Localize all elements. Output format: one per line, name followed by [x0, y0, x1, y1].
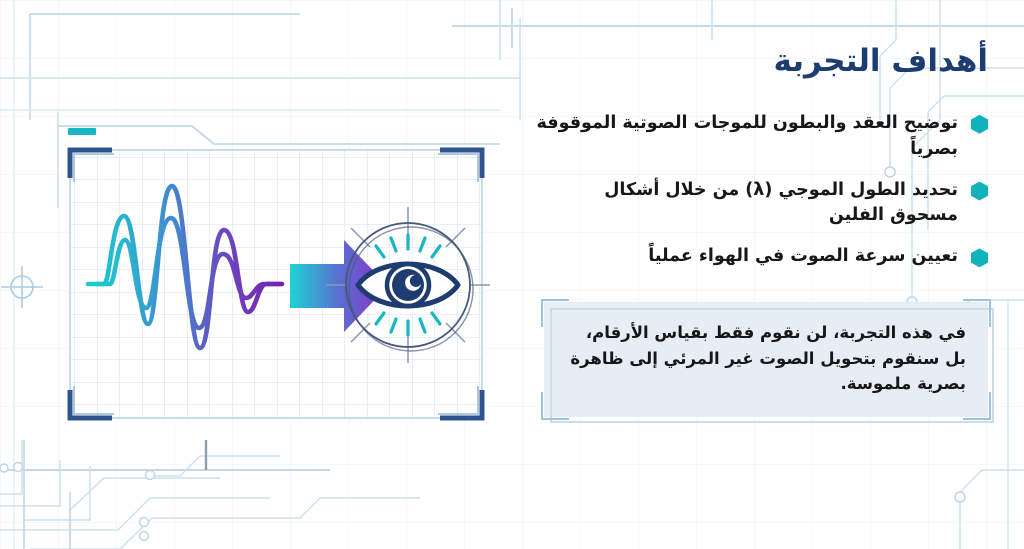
crosshair-marker [1, 266, 43, 308]
objective-text: تحديد الطول الموجي (λ) من خلال أشكال مسح… [536, 178, 958, 230]
objective-text: تعيين سرعة الصوت في الهواء عملياً [536, 244, 958, 270]
callout-text: في هذه التجربة، لن نقوم فقط بقياس الأرقا… [566, 320, 966, 397]
circuit-vias-bottom-left [0, 463, 155, 541]
list-item: تحديد الطول الموجي (λ) من خلال أشكال مسح… [536, 178, 988, 230]
circuit-traces-bottom-left [0, 440, 420, 549]
objectives-list: توضيح العقد والبطون للموجات الصوتية المو… [536, 111, 988, 270]
illustration-panel [52, 112, 500, 452]
list-item: تعيين سرعة الصوت في الهواء عملياً [536, 244, 988, 270]
slide-root: أهداف التجربة توضيح العقد والبطون للموجا… [0, 0, 1024, 549]
corner-bracket-bottom-right [963, 392, 991, 420]
hexagon-icon [971, 248, 988, 267]
list-item: توضيح العقد والبطون للموجات الصوتية المو… [536, 111, 988, 163]
objective-text: توضيح العقد والبطون للموجات الصوتية المو… [536, 111, 958, 163]
page-title: أهداف التجربة [536, 42, 988, 81]
corner-bracket-top-left [541, 299, 569, 327]
content-column: أهداف التجربة توضيح العقد والبطون للموجا… [536, 42, 988, 417]
corner-bracket-top-right [963, 299, 991, 327]
hexagon-icon [971, 115, 988, 134]
corner-bracket-bottom-left [541, 392, 569, 420]
hexagon-icon [971, 182, 988, 201]
callout-box: في هذه التجربة، لن نقوم فقط بقياس الأرقا… [544, 302, 988, 417]
